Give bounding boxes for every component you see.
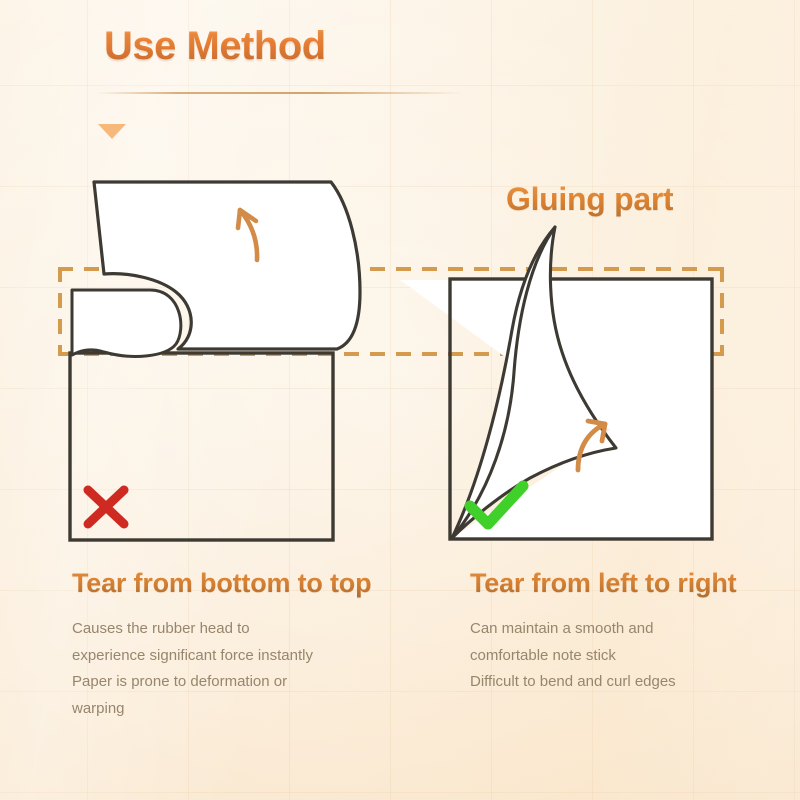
note-base-square <box>70 353 333 540</box>
caption-left-heading: Tear from bottom to top <box>72 566 422 600</box>
caption-left: Tear from bottom to top Causes the rubbe… <box>72 566 422 723</box>
tear-left-to-right-diagram <box>340 227 712 539</box>
title-divider <box>96 92 464 94</box>
caption-right-body: Can maintain a smooth and comfortable no… <box>470 616 790 696</box>
caption-left-line: warping <box>72 696 422 723</box>
caption-left-line: Causes the rubber head to <box>72 616 422 643</box>
note-body-white <box>340 280 712 538</box>
triangle-down-icon <box>98 124 126 139</box>
note-lifted-sheet <box>94 182 360 349</box>
caption-right: Tear from left to right Can maintain a s… <box>470 566 790 696</box>
caption-right-line: Can maintain a smooth and <box>470 616 790 643</box>
infographic-page: Use Method <box>0 0 800 800</box>
curved-arrow-up-right-icon <box>578 421 605 470</box>
cross-icon <box>88 490 124 524</box>
gluing-part-label: Gluing part <box>506 181 673 218</box>
caption-right-line: Difficult to bend and curl edges <box>470 669 790 696</box>
caption-right-line: comfortable note stick <box>470 643 790 670</box>
dashed-glue-band <box>58 267 724 356</box>
caption-right-heading: Tear from left to right <box>470 566 790 600</box>
check-icon <box>470 486 523 524</box>
caption-left-line: Paper is prone to deformation or <box>72 669 422 696</box>
note-curl-loop <box>72 290 181 356</box>
note-peel-edge <box>452 227 555 538</box>
caption-left-body: Causes the rubber head to experience sig… <box>72 616 422 723</box>
caption-left-line: experience significant force instantly <box>72 643 422 670</box>
page-title: Use Method <box>104 24 326 69</box>
curved-arrow-up-icon <box>238 210 257 260</box>
note-base-square <box>450 279 712 539</box>
tear-bottom-to-top-diagram <box>70 182 360 540</box>
note-peel-flap <box>452 227 616 538</box>
